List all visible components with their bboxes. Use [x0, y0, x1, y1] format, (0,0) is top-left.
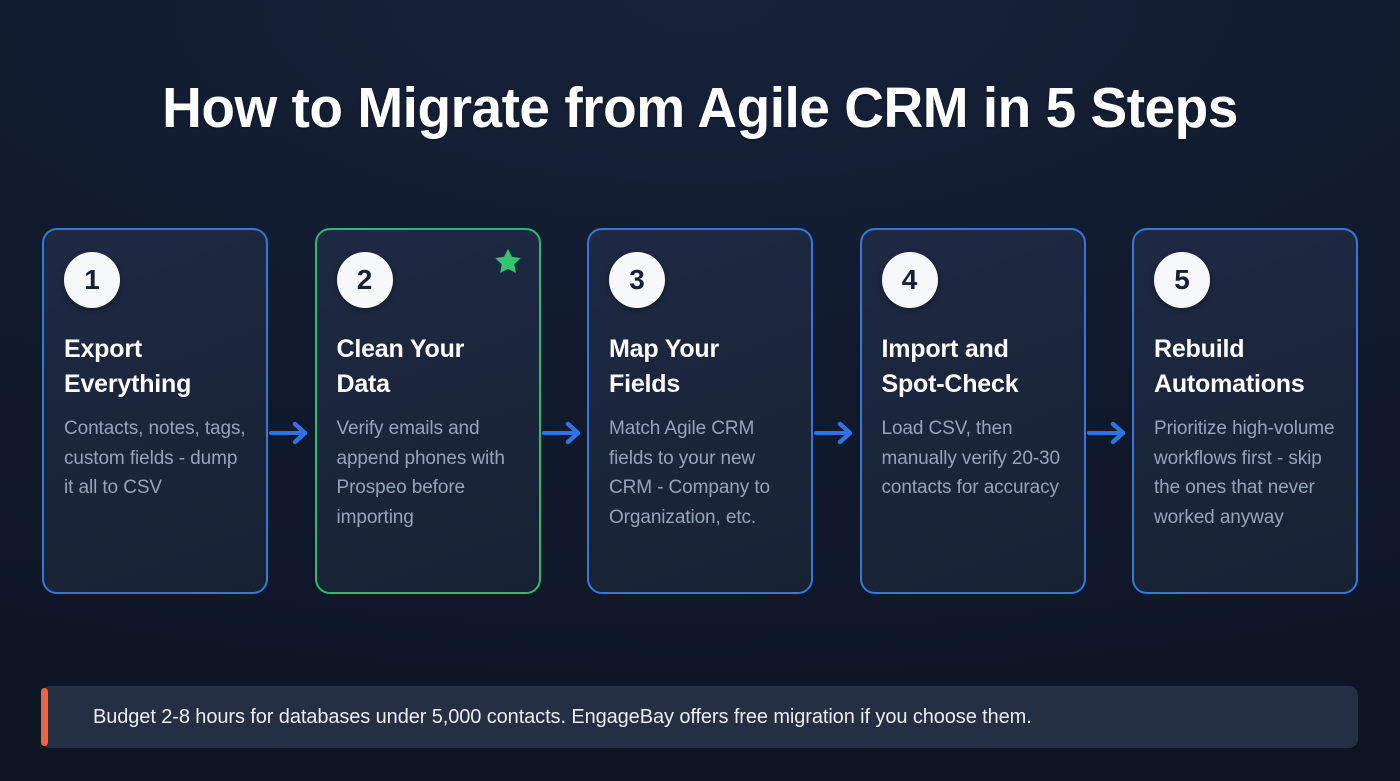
callout-text: Budget 2-8 hours for databases under 5,0… — [41, 704, 1032, 730]
step-card-2[interactable]: 2 Clean Your Data Verify emails and appe… — [315, 228, 541, 594]
step-description-5: Prioritize high-volume workflows first -… — [1154, 414, 1336, 532]
step-title-5: Rebuild Automations — [1154, 332, 1336, 402]
connector-arrow-3 — [813, 228, 860, 594]
step-card-3[interactable]: 3 Map Your Fields Match Agile CRM fields… — [587, 228, 813, 594]
infographic-canvas: How to Migrate from Agile CRM in 5 Steps… — [0, 0, 1400, 781]
step-title-1: Export Everything — [64, 332, 246, 402]
step-description-1: Contacts, notes, tags, custom fields - d… — [64, 414, 246, 503]
page-title: How to Migrate from Agile CRM in 5 Steps — [25, 74, 1376, 142]
step-card-4[interactable]: 4 Import and Spot-Check Load CSV, then m… — [860, 228, 1086, 594]
step-number-badge-2: 2 — [337, 252, 393, 308]
step-card-5[interactable]: 5 Rebuild Automations Prioritize high-vo… — [1132, 228, 1358, 594]
steps-row: 1 Export Everything Contacts, notes, tag… — [42, 228, 1358, 594]
connector-arrow-1 — [268, 228, 315, 594]
step-number-badge-5: 5 — [1154, 252, 1210, 308]
step-card-1[interactable]: 1 Export Everything Contacts, notes, tag… — [42, 228, 268, 594]
footer-callout: Budget 2-8 hours for databases under 5,0… — [41, 686, 1358, 748]
step-number-badge-1: 1 — [64, 252, 120, 308]
step-number-badge-4: 4 — [882, 252, 938, 308]
callout-accent-bar — [41, 688, 48, 746]
star-icon — [494, 247, 522, 275]
step-description-3: Match Agile CRM fields to your new CRM -… — [609, 414, 791, 532]
step-title-3: Map Your Fields — [609, 332, 791, 402]
connector-arrow-2 — [541, 228, 588, 594]
step-number-badge-3: 3 — [609, 252, 665, 308]
step-description-2: Verify emails and append phones with Pro… — [337, 414, 519, 532]
step-description-4: Load CSV, then manually verify 20-30 con… — [882, 414, 1064, 503]
step-title-2: Clean Your Data — [337, 332, 519, 402]
step-title-4: Import and Spot-Check — [882, 332, 1064, 402]
connector-arrow-4 — [1086, 228, 1133, 594]
